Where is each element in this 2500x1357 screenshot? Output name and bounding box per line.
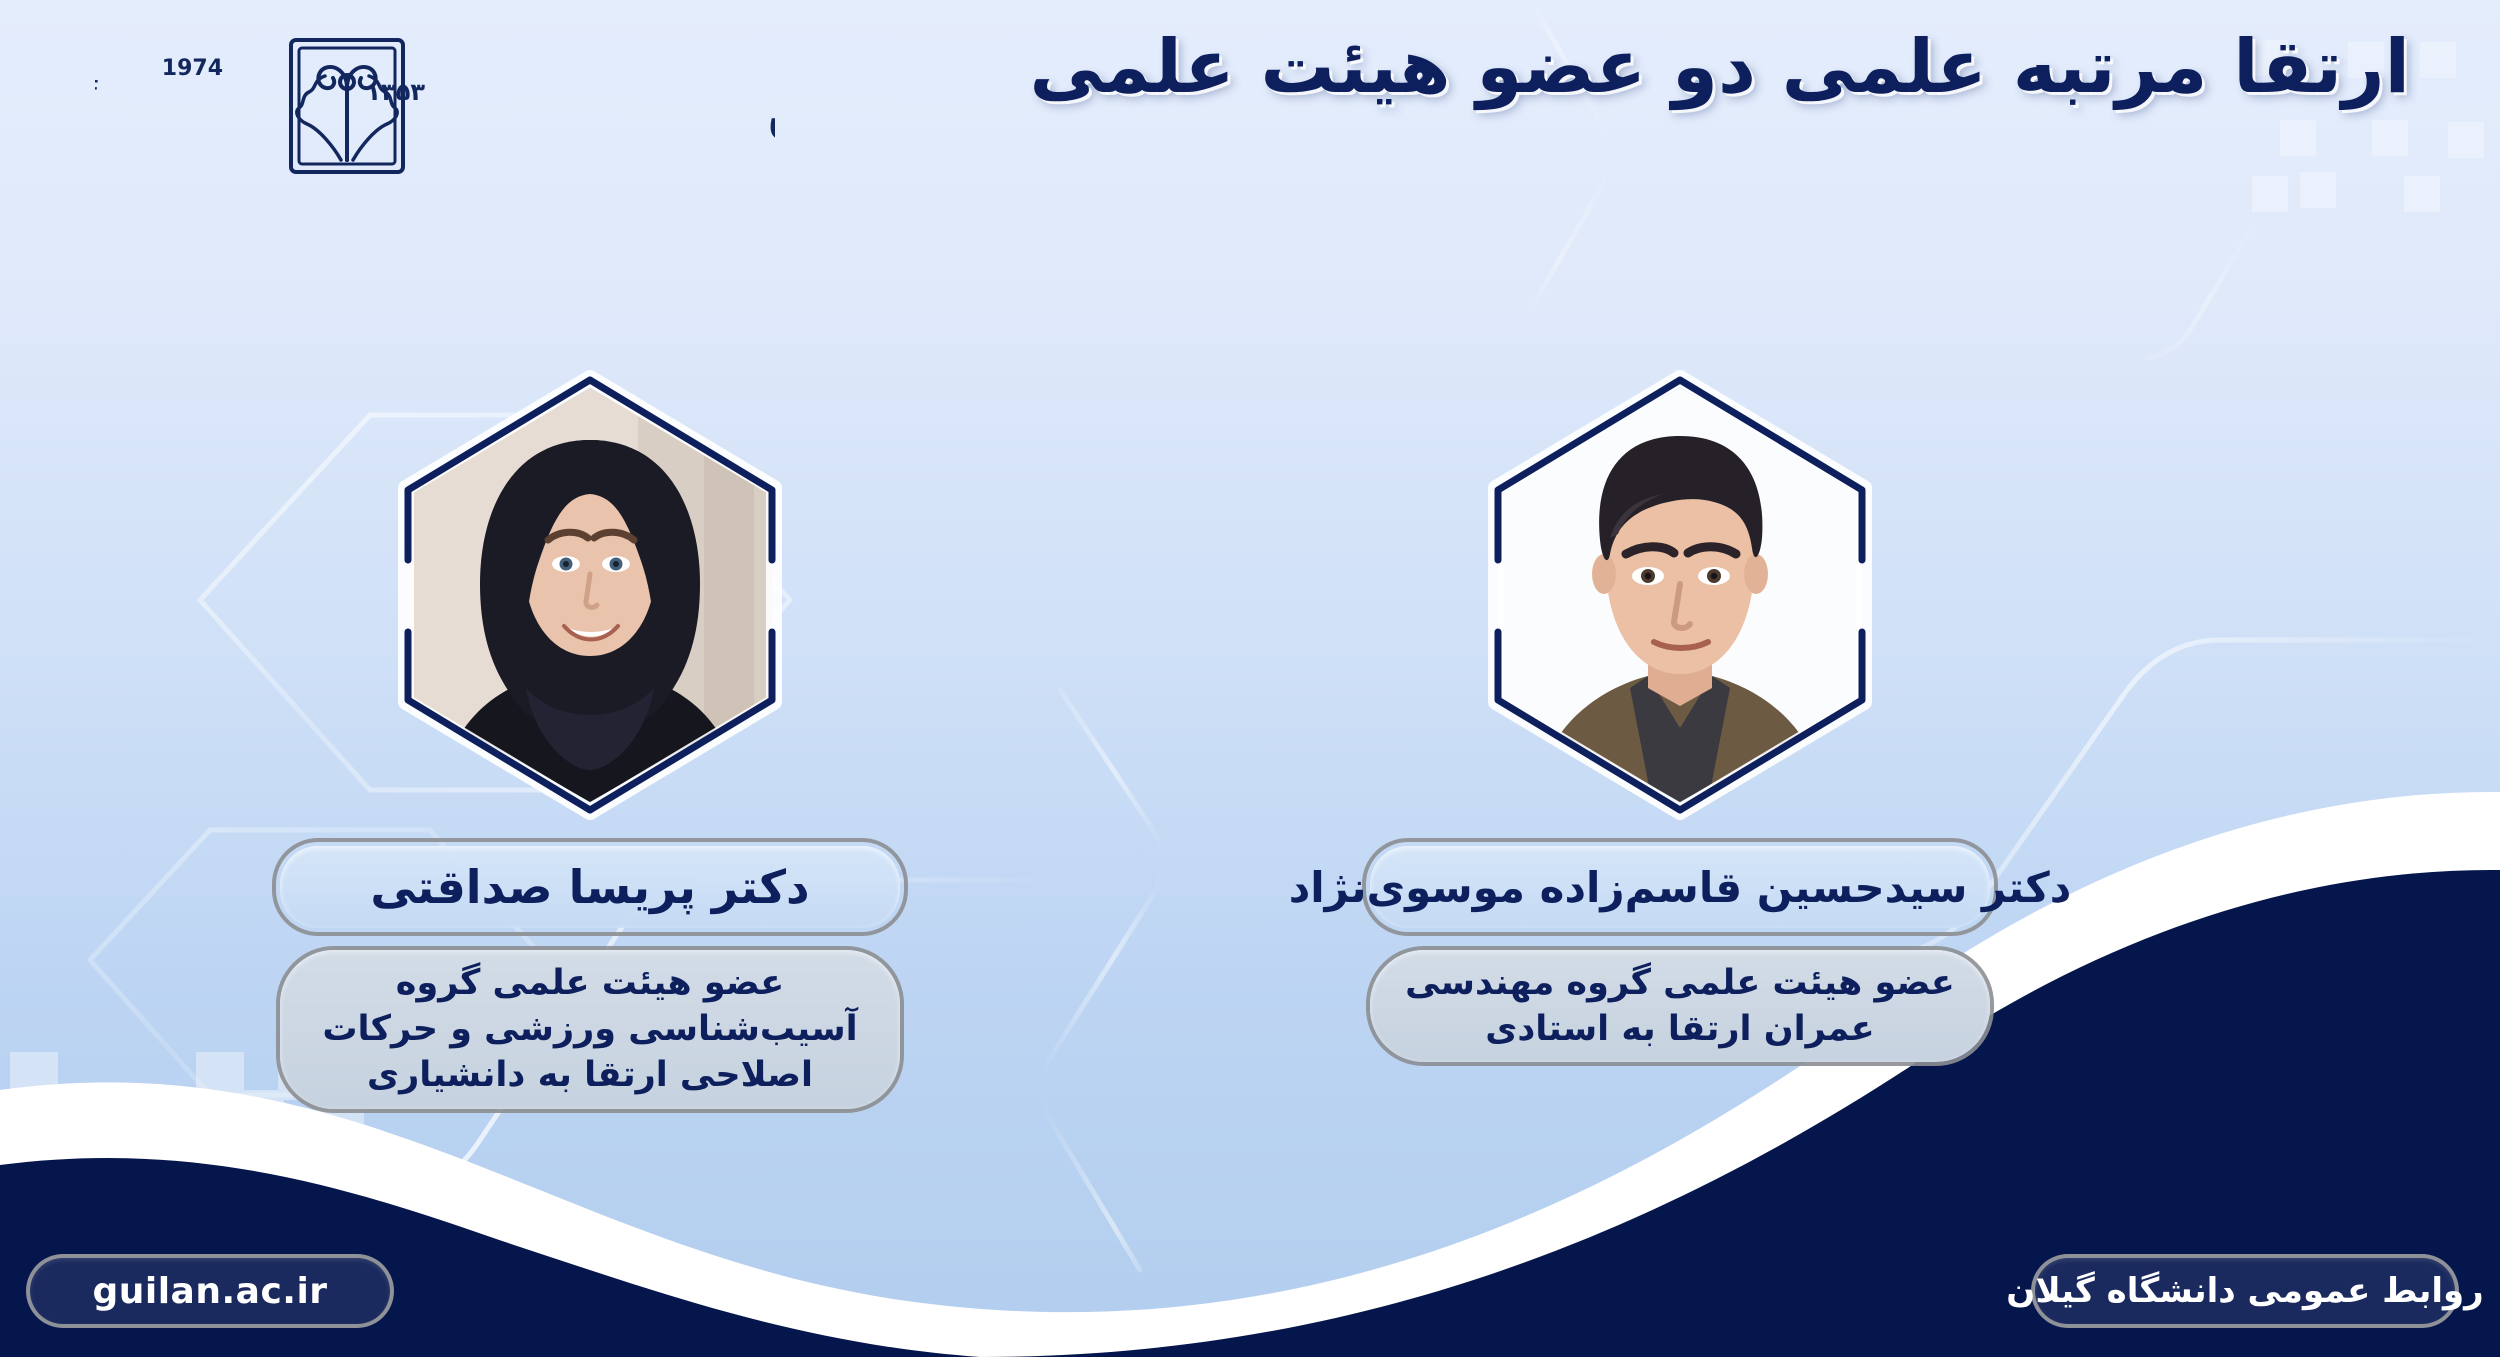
person-role-right: عضو هیئت علمی گروه مهندسی عمران ارتقا به…	[1396, 960, 1964, 1052]
photo-frame-left	[390, 370, 790, 820]
hex-frame-left-icon	[390, 370, 790, 820]
person-name-left: دکتر پریسا صداقتی	[370, 860, 809, 914]
person-role-badge-right: عضو هیئت علمی گروه مهندسی عمران ارتقا به…	[1370, 950, 1990, 1062]
website-url: guilan.ac.ir	[92, 1271, 327, 1312]
person-name-badge-left: دکتر پریسا صداقتی	[276, 842, 904, 932]
person-name-badge-right: دکتر سیدحسین قاسم‌زاده موسوی‌نژاد	[1366, 842, 1994, 932]
public-relations-badge: روابط عمومی دانشگاه گیلان	[2035, 1258, 2455, 1324]
public-relations-label: روابط عمومی دانشگاه گیلان	[2006, 1271, 2483, 1311]
logo-name-fa: دانشگاه گیلان	[767, 78, 775, 146]
university-logo: University of Guilan 1974 ۱۳۵۳ دانشگاه گ…	[95, 28, 775, 168]
person-role-badge-left: عضو هیئت علمی گروه آسیب‌شناسی ورزشی و حر…	[280, 950, 900, 1109]
person-role-left: عضو هیئت علمی گروه آسیب‌شناسی ورزشی و حر…	[306, 960, 874, 1099]
decor-squares-right	[2108, 930, 2500, 1132]
logo-university-of-text: University of	[95, 75, 98, 115]
logo-year-fa: ۱۳۵۳	[366, 78, 425, 106]
poster-canvas: University of Guilan 1974 ۱۳۵۳ دانشگاه گ…	[0, 0, 2500, 1357]
logo-guilan-text: Guilan	[95, 121, 97, 165]
university-logo-svg: University of Guilan 1974 ۱۳۵۳ دانشگاه گ…	[95, 28, 775, 178]
photo-frame-right	[1480, 370, 1880, 820]
hex-frame-right-icon	[1480, 370, 1880, 820]
logo-year-en: 1974	[162, 56, 223, 81]
person-name-right: دکتر سیدحسین قاسم‌زاده موسوی‌نژاد	[1289, 863, 2072, 912]
person-card-left: دکتر پریسا صداقتی عضو هیئت علمی گروه آسی…	[270, 370, 910, 1109]
person-card-right: دکتر سیدحسین قاسم‌زاده موسوی‌نژاد عضو هی…	[1360, 370, 2000, 1062]
page-title: ارتقا مرتبه علمی دو عضو هیئت علمی	[850, 22, 2410, 112]
website-badge[interactable]: guilan.ac.ir	[30, 1258, 390, 1324]
logo-emblem-icon	[291, 40, 403, 172]
